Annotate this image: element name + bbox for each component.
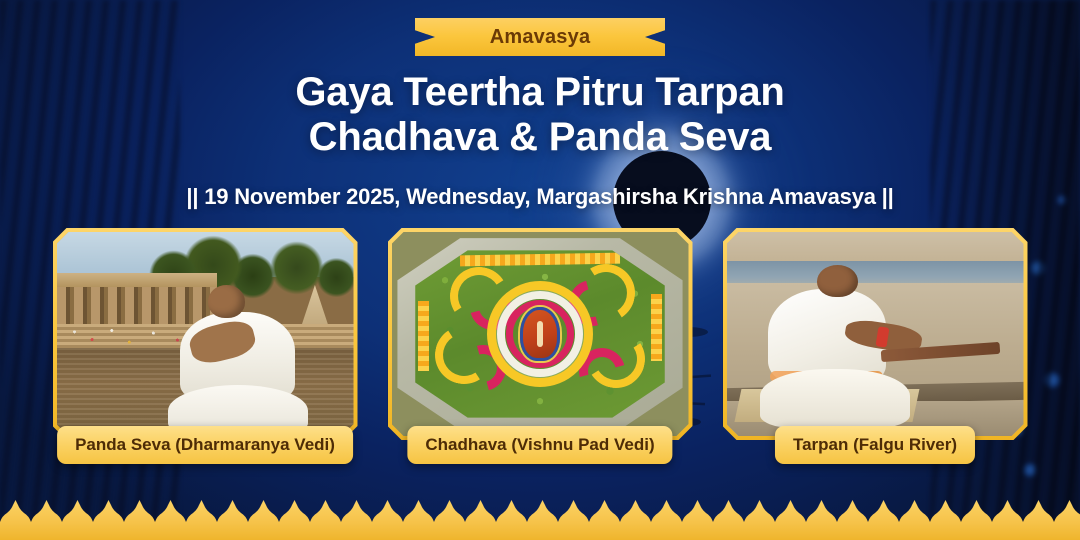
marigold-garland-right: [651, 294, 662, 361]
card-chadhava: Chadhava (Vishnu Pad Vedi): [388, 228, 693, 440]
photo-chadhava: [392, 232, 689, 436]
photo-panda-seva: [57, 232, 354, 436]
gold-scallop-arch-border: [0, 500, 1080, 540]
green-leaf-bed: [415, 250, 665, 417]
badge-container: Amavasya: [0, 18, 1080, 56]
photo-frame: [723, 228, 1028, 440]
card-row: Panda Seva (Dharmaranya Vedi): [0, 228, 1080, 440]
seated-priest: [175, 285, 300, 436]
page-title: Gaya Teertha Pitru Tarpan Chadhava & Pan…: [0, 70, 1080, 160]
photo-frame: [53, 228, 358, 440]
caption-tarpan: Tarpan (Falgu River): [775, 426, 975, 464]
photo-tarpan: [727, 232, 1024, 436]
priest-legs: [760, 369, 910, 428]
amavasya-banner: Amavasya Gaya Teertha Pitru Tarpan Chadh…: [0, 0, 1080, 540]
vishnu-pad-footprint: [520, 307, 560, 361]
caption-chadhava: Chadhava (Vishnu Pad Vedi): [407, 426, 672, 464]
priest-head: [817, 265, 858, 298]
date-subtitle: || 19 November 2025, Wednesday, Margashi…: [0, 184, 1080, 210]
marigold-garland-top: [460, 252, 620, 266]
card-panda-seva: Panda Seva (Dharmaranya Vedi): [53, 228, 358, 440]
amavasya-badge: Amavasya: [415, 18, 665, 56]
card-tarpan: Tarpan (Falgu River): [723, 228, 1028, 440]
title-line-1: Gaya Teertha Pitru Tarpan: [295, 70, 784, 114]
priest-head: [208, 285, 245, 318]
marigold-garland-left: [418, 301, 429, 371]
title-line-2: Chadhava & Panda Seva: [0, 115, 1080, 160]
seated-priest: [768, 265, 905, 428]
photo-frame: [388, 228, 693, 440]
caption-panda-seva: Panda Seva (Dharmaranya Vedi): [57, 426, 353, 464]
